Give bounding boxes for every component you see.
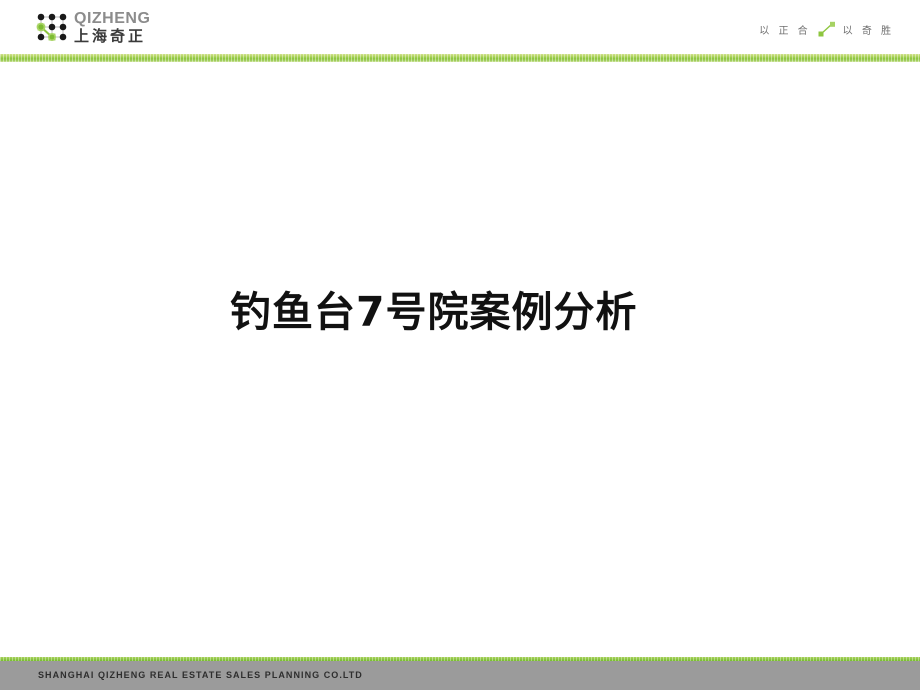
slide-body: 钓鱼台7号院案例分析 (0, 62, 920, 657)
logo-chinese-name: 上海奇正 (74, 29, 150, 44)
page-title: 钓鱼台7号院案例分析 (230, 290, 638, 335)
presentation-slide: QIZHENG 上海奇正 以 正 合 以 奇 胜 钓鱼台7号院案例分析 SHAN… (0, 0, 920, 690)
header-slogan: 以 正 合 以 奇 胜 (759, 21, 894, 37)
logo-latin-name: QIZHENG (74, 11, 150, 27)
slogan-left-text: 以 正 合 (759, 22, 810, 37)
footer-green-rule (0, 657, 920, 661)
footer-company-name: SHANGHAI QIZHENG REAL ESTATE SALES PLANN… (38, 670, 363, 680)
logo-wordmark: QIZHENG 上海奇正 (74, 11, 150, 44)
slogan-right-text: 以 奇 胜 (843, 22, 894, 37)
dot-grid-logo-icon (36, 11, 68, 43)
company-logo[interactable]: QIZHENG 上海奇正 (36, 8, 150, 46)
slide-header: QIZHENG 上海奇正 以 正 合 以 奇 胜 (0, 0, 920, 54)
slide-footer: SHANGHAI QIZHENG REAL ESTATE SALES PLANN… (0, 657, 920, 690)
header-green-divider (0, 54, 920, 62)
green-diagonal-dots-icon (816, 21, 838, 37)
